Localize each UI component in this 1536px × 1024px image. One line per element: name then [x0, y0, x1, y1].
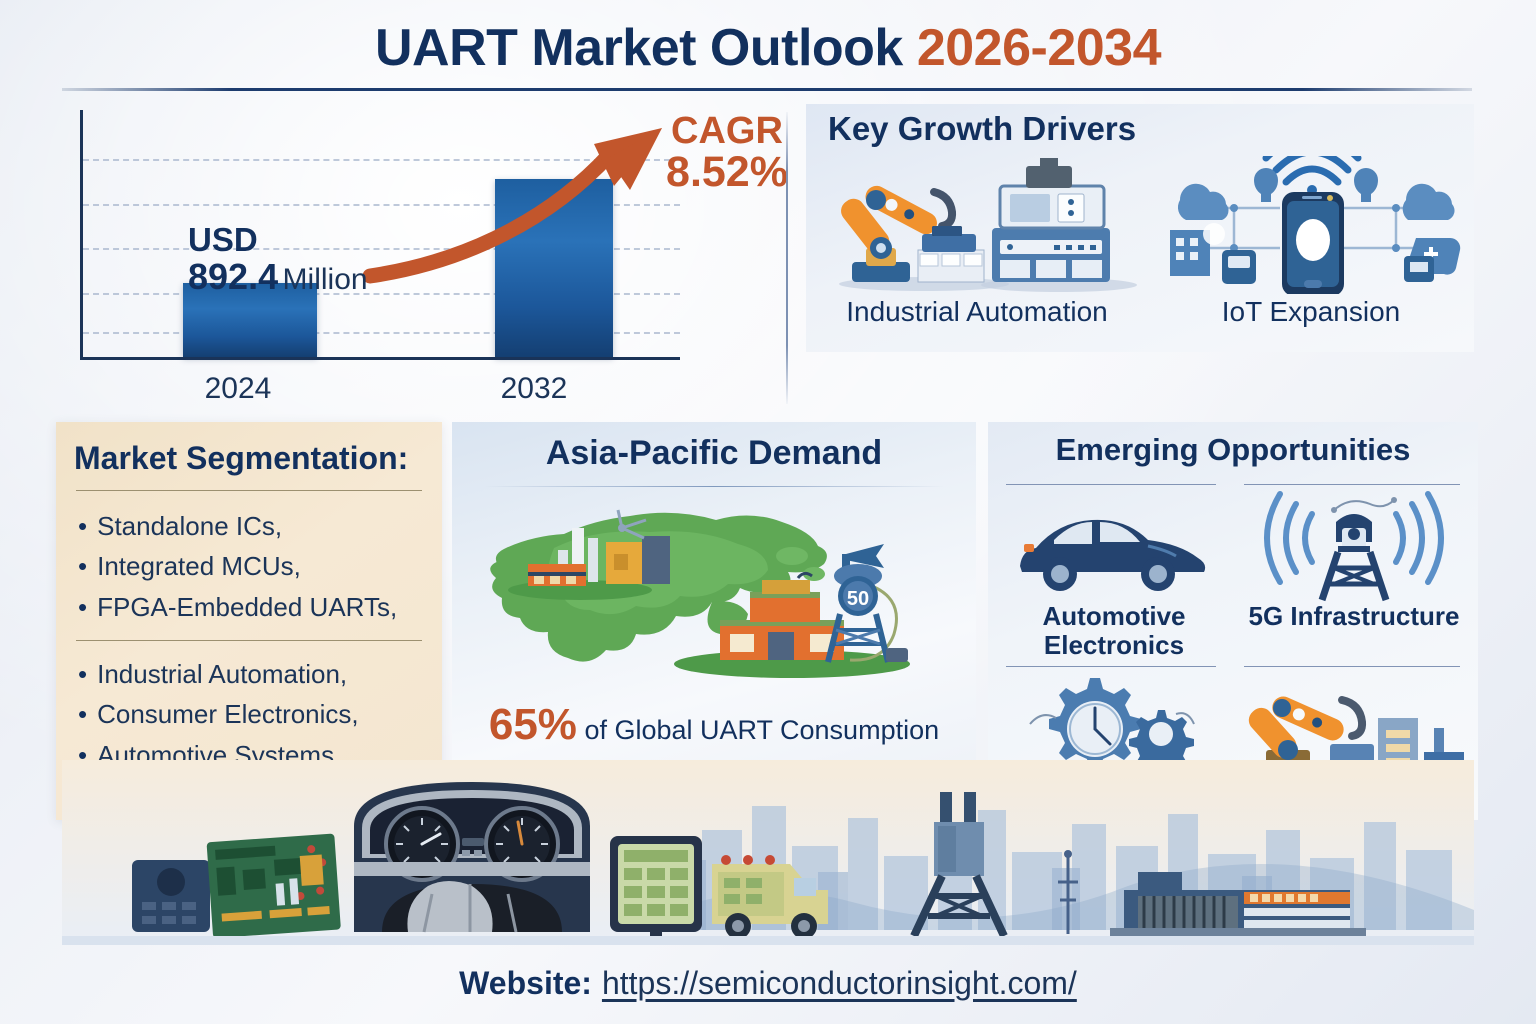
asia-pacific-demand-panel: Asia-Pacific Demand — [452, 422, 976, 772]
consumption-caption: of Global UART Consumption — [577, 715, 939, 745]
infographic-canvas: UART Market Outlook 2026-2034 USD 892.4 … — [0, 0, 1536, 1024]
list-item: Standalone ICs, — [78, 506, 438, 546]
technology-scene-illustration — [62, 760, 1474, 945]
asia-panel-title: Asia-Pacific Demand — [452, 434, 976, 473]
value-currency-label: USD — [188, 222, 468, 258]
consumption-percent: 65% — [489, 700, 577, 749]
driver-label-0: Industrial Automation — [814, 296, 1140, 328]
title-years-text: 2026-2034 — [917, 18, 1161, 78]
asia-consumption-stat: 65% of Global UART Consumption — [452, 700, 976, 750]
opportunities-divider — [1006, 484, 1216, 485]
opportunity-label-1: 5G Infrastructure — [1238, 602, 1470, 631]
segmentation-divider-mid — [76, 640, 422, 641]
website-label: Website: — [459, 965, 592, 1002]
market-size-bar-chart: USD 892.4 Million CAGR 8.52% 2024 2032 — [62, 104, 762, 414]
opportunity-item-5g: 5G Infrastructure — [1238, 490, 1470, 668]
asia-map-icon: 50 — [462, 492, 966, 692]
driver-label-1: IoT Expansion — [1148, 296, 1474, 328]
drivers-panel-title: Key Growth Drivers — [828, 110, 1136, 148]
x-axis-label-2032: 2032 — [462, 372, 606, 406]
cell-tower-signal-icon — [1238, 490, 1470, 608]
opportunities-title: Emerging Opportunities — [988, 432, 1478, 468]
list-item: Integrated MCUs, — [78, 546, 438, 586]
driver-item-industrial-automation: Industrial Automation — [814, 156, 1140, 348]
bottom-illustration-band — [62, 760, 1474, 945]
value-number: 892.4 — [188, 256, 278, 297]
list-item: Industrial Automation, — [78, 654, 438, 694]
section-divider-vertical — [786, 112, 788, 404]
market-value-callout: USD 892.4 Million — [188, 222, 468, 297]
opportunity-item-automotive: Automotive Electronics — [998, 490, 1230, 668]
driver-item-iot-expansion: IoT Expansion — [1148, 156, 1474, 348]
key-growth-drivers-panel: Key Growth Drivers — [806, 104, 1474, 352]
footer: Website: https://semiconductorinsight.co… — [0, 952, 1536, 1014]
x-axis-label-2024: 2024 — [162, 372, 314, 406]
opportunity-label-0: Automotive Electronics — [998, 602, 1230, 660]
page-title: UART Market Outlook 2026-2034 — [0, 8, 1536, 88]
segmentation-divider-top — [76, 490, 422, 491]
header-divider — [62, 88, 1472, 91]
segmentation-group-one: Standalone ICs, Integrated MCUs, FPGA-Em… — [78, 506, 438, 627]
car-icon — [998, 490, 1230, 608]
list-item: Consumer Electronics, — [78, 694, 438, 734]
speed-sign-value: 50 — [847, 588, 869, 610]
title-main-text: UART Market Outlook — [375, 18, 903, 78]
smartphone-wifi-network-icon — [1148, 156, 1474, 294]
segmentation-title: Market Segmentation: — [74, 440, 408, 477]
website-url-link[interactable]: https://semiconductorinsight.com/ — [602, 965, 1077, 1002]
opportunities-divider — [1244, 484, 1460, 485]
value-unit: Million — [283, 263, 368, 296]
list-item: FPGA-Embedded UARTs, — [78, 587, 438, 627]
asia-title-divider — [484, 486, 944, 487]
robot-arm-factory-icon — [814, 156, 1140, 294]
